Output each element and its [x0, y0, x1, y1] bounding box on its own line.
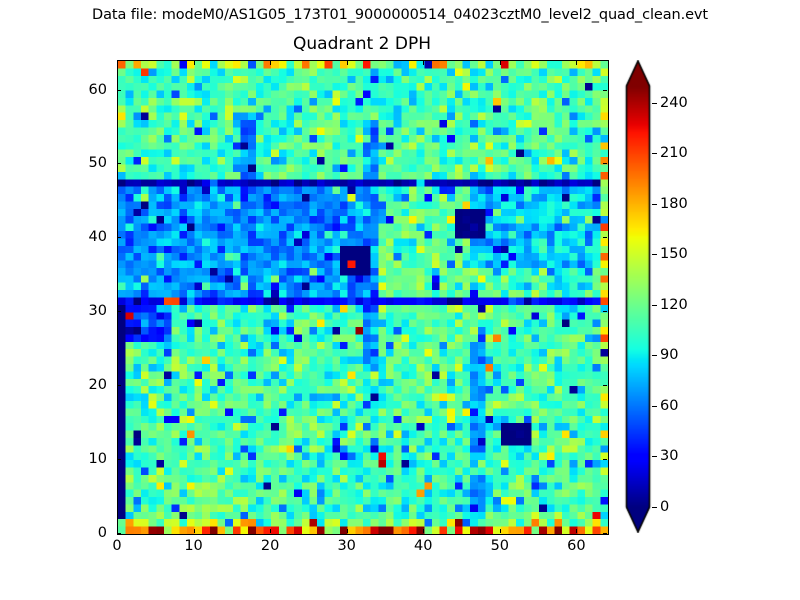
y-tick-mark-right: [603, 311, 607, 312]
y-tick-label: 60: [63, 82, 107, 98]
colorbar-gradient[interactable]: [624, 60, 652, 533]
x-tick-mark-top: [423, 61, 424, 65]
colorbar-tick-label: 240: [660, 95, 688, 111]
colorbar-tick-mark: [652, 254, 657, 255]
y-tick-mark: [117, 311, 121, 312]
x-tick-mark: [270, 529, 271, 533]
heatmap-axes[interactable]: [117, 60, 609, 535]
x-tick-mark: [423, 529, 424, 533]
y-tick-label: 50: [63, 155, 107, 171]
colorbar-tick-mark: [652, 204, 657, 205]
colorbar-tick-mark: [652, 406, 657, 407]
y-tick-mark-right: [603, 90, 607, 91]
colorbar-tick-label: 150: [660, 246, 688, 262]
y-tick-mark-right: [603, 163, 607, 164]
colorbar-tick-mark: [652, 153, 657, 154]
x-tick-mark: [576, 529, 577, 533]
y-tick-mark: [117, 237, 121, 238]
colorbar[interactable]: [624, 60, 652, 533]
colorbar-tick-label: 120: [660, 297, 688, 313]
x-tick-label: 40: [414, 538, 432, 554]
x-tick-mark: [194, 529, 195, 533]
y-tick-mark: [117, 459, 121, 460]
y-tick-mark-right: [603, 459, 607, 460]
colorbar-tick-label: 90: [660, 347, 678, 363]
colorbar-tick-mark: [652, 507, 657, 508]
heatmap-image[interactable]: [118, 61, 608, 534]
y-tick-label: 0: [63, 525, 107, 541]
y-tick-mark: [117, 385, 121, 386]
x-tick-mark-top: [117, 61, 118, 65]
x-tick-mark-top: [500, 61, 501, 65]
colorbar-tick-label: 0: [660, 499, 669, 515]
data-file-label: Data file: modeM0/AS1G05_173T01_90000005…: [0, 7, 800, 23]
x-tick-mark-top: [270, 61, 271, 65]
x-tick-label: 10: [184, 538, 202, 554]
y-tick-mark: [117, 90, 121, 91]
y-tick-label: 10: [63, 451, 107, 467]
y-tick-mark-right: [603, 385, 607, 386]
x-tick-mark-top: [347, 61, 348, 65]
y-tick-mark-right: [603, 533, 607, 534]
y-tick-label: 20: [63, 377, 107, 393]
y-tick-mark: [117, 533, 121, 534]
colorbar-tick-mark: [652, 456, 657, 457]
x-tick-mark: [347, 529, 348, 533]
colorbar-tick-mark: [652, 355, 657, 356]
colorbar-tick-label: 180: [660, 196, 688, 212]
colorbar-tick-label: 30: [660, 448, 678, 464]
y-tick-mark-right: [603, 237, 607, 238]
y-tick-label: 30: [63, 303, 107, 319]
x-tick-label: 0: [112, 538, 121, 554]
x-tick-mark-top: [194, 61, 195, 65]
x-tick-label: 20: [261, 538, 279, 554]
figure-canvas: Data file: modeM0/AS1G05_173T01_90000005…: [0, 0, 800, 600]
x-tick-label: 30: [337, 538, 355, 554]
y-tick-label: 40: [63, 229, 107, 245]
x-tick-mark-top: [576, 61, 577, 65]
x-tick-mark: [500, 529, 501, 533]
page-title: Quadrant 2 DPH: [117, 34, 607, 54]
colorbar-tick-mark: [652, 103, 657, 104]
colorbar-tick-label: 210: [660, 145, 688, 161]
x-tick-label: 60: [567, 538, 585, 554]
colorbar-tick-label: 60: [660, 398, 678, 414]
colorbar-tick-mark: [652, 305, 657, 306]
y-tick-mark: [117, 163, 121, 164]
x-tick-label: 50: [491, 538, 509, 554]
